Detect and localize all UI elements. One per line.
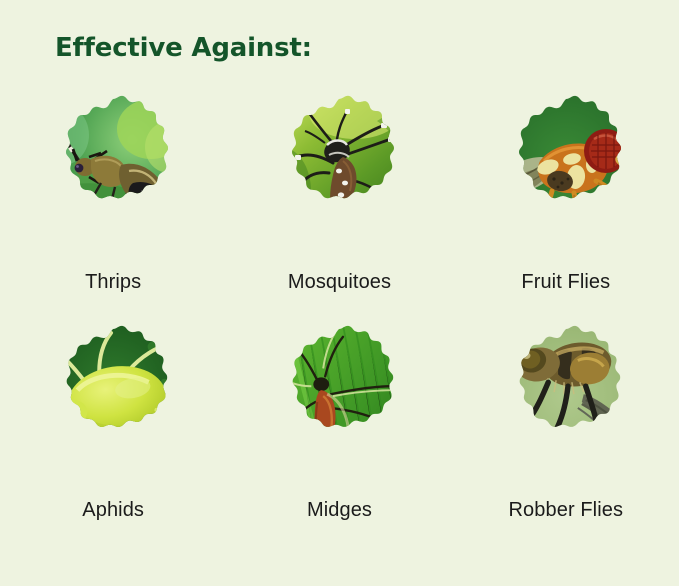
midge-photo	[260, 325, 418, 483]
effective-against-poster: Effective Against:	[0, 0, 679, 586]
grid-item-thrips[interactable]: Thrips	[0, 95, 226, 325]
robber-fly-photo	[487, 325, 645, 483]
grid-item-fruit-flies[interactable]: Fruit Flies	[453, 95, 679, 325]
aphid-thumbnail[interactable]	[34, 325, 192, 483]
grid-item-robber-flies[interactable]: Robber Flies	[453, 325, 679, 555]
aphid-photo	[34, 325, 192, 483]
caption-aphids: Aphids	[82, 500, 144, 520]
midge-thumbnail[interactable]	[260, 325, 418, 483]
fruit-fly-thumbnail[interactable]	[486, 95, 646, 255]
grid-item-midges[interactable]: Midges	[226, 325, 452, 555]
insect-grid: Thrips	[0, 95, 679, 555]
grid-item-mosquitoes[interactable]: Mosquitoes	[226, 95, 452, 325]
caption-robber-flies: Robber Flies	[509, 500, 624, 520]
robber-fly-thumbnail[interactable]	[487, 325, 645, 483]
page-title: Effective Against:	[55, 33, 312, 63]
caption-mosquitoes: Mosquitoes	[288, 272, 391, 292]
mosquito-photo	[259, 95, 419, 255]
caption-fruit-flies: Fruit Flies	[521, 272, 610, 292]
grid-item-aphids[interactable]: Aphids	[0, 325, 226, 555]
thrips-photo	[33, 95, 193, 255]
caption-midges: Midges	[307, 500, 372, 520]
mosquito-thumbnail[interactable]	[259, 95, 419, 255]
caption-thrips: Thrips	[85, 272, 141, 292]
thrips-thumbnail[interactable]	[33, 95, 193, 255]
fruit-fly-photo	[486, 95, 646, 255]
